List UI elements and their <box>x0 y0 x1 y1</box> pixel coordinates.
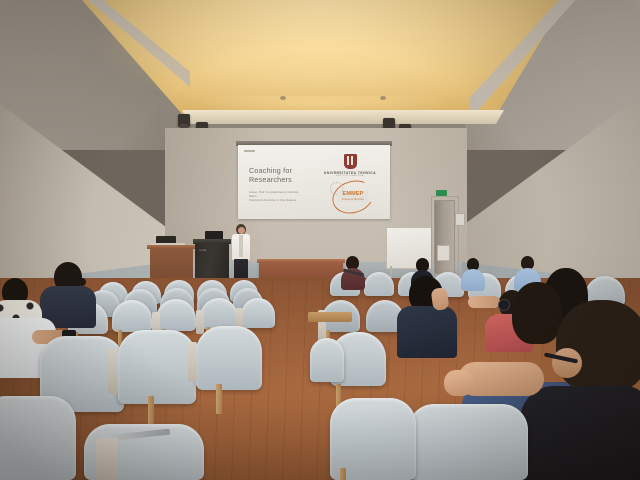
chair-leg <box>216 384 222 414</box>
chair[interactable] <box>408 404 528 480</box>
attendee-blue-shirt-1 <box>463 258 484 290</box>
presenter-face <box>238 227 245 234</box>
university-name-line2: DIN CLUJ-NAPOCA <box>319 175 381 177</box>
chair-armrest <box>96 438 118 480</box>
chair[interactable] <box>156 299 196 331</box>
attendee-ear <box>78 278 86 286</box>
attendee-ear <box>552 348 582 378</box>
chair[interactable] <box>200 298 238 329</box>
ceiling-spotlight-left-1 <box>178 114 190 127</box>
chair[interactable] <box>118 330 196 404</box>
side-door[interactable] <box>434 200 455 274</box>
attendee-maroon-strap <box>342 256 364 290</box>
slide-subtitle-line3: Technical University of Cluj-Napoca <box>249 198 321 202</box>
door-panel <box>437 245 450 261</box>
slide-subtitle: Assoc. Prof. Constantinescu Codruta Mari… <box>249 190 321 203</box>
university-name-line1: UNIVERSITATEA TEHNICA <box>319 171 381 175</box>
attendee-torso <box>397 306 457 358</box>
project-tagline: Erasmus Mundus <box>337 198 369 201</box>
chair-armrest <box>196 310 204 334</box>
chair-leg <box>340 468 346 480</box>
attendee-back-left <box>42 262 94 324</box>
av-control-desk <box>150 248 193 282</box>
ceiling-fixture-dot-1 <box>280 96 286 100</box>
smartwatch-icon <box>498 299 510 311</box>
ceiling-fixture-dot-2 <box>380 96 386 100</box>
attendee-navy-center <box>397 276 457 356</box>
chair[interactable] <box>0 396 76 480</box>
wall-mounted-box <box>455 213 465 226</box>
attendee-hand <box>444 370 474 396</box>
chair[interactable] <box>196 326 262 390</box>
slide-corner-mark <box>244 150 255 152</box>
attendee-torso <box>520 386 640 480</box>
slide-title: Coaching for Researchers <box>249 167 319 184</box>
chair[interactable] <box>241 298 275 328</box>
chair[interactable] <box>364 272 394 296</box>
presentation-slide: Coaching for Researchers Assoc. Prof. Co… <box>238 145 390 219</box>
attendee-forearm <box>468 296 500 308</box>
attendee-torso <box>461 269 485 291</box>
attendee-head <box>556 300 640 392</box>
attendee-raised-hand <box>431 287 450 311</box>
slide-title-line2: Researchers <box>249 176 319 185</box>
chair-armrest <box>188 342 197 382</box>
side-table <box>308 312 352 322</box>
projection-screen: Coaching for Researchers Assoc. Prof. Co… <box>238 145 390 219</box>
chair[interactable] <box>112 300 152 332</box>
university-logo: UNIVERSITATEA TEHNICA DIN CLUJ-NAPOCA <box>319 154 381 177</box>
project-logo: EMMEP Erasmus Mundus <box>330 181 374 212</box>
chair-armrest <box>108 348 118 394</box>
presenter-jacket <box>232 234 250 260</box>
shield-icon <box>344 154 357 169</box>
exit-sign-icon <box>436 190 447 196</box>
chair[interactable] <box>310 338 344 382</box>
project-acronym: EMMEP <box>339 191 367 197</box>
lectern-logo-text: UTCN <box>195 250 211 252</box>
lecture-hall-photo: Coaching for Researchers Assoc. Prof. Co… <box>0 0 640 480</box>
